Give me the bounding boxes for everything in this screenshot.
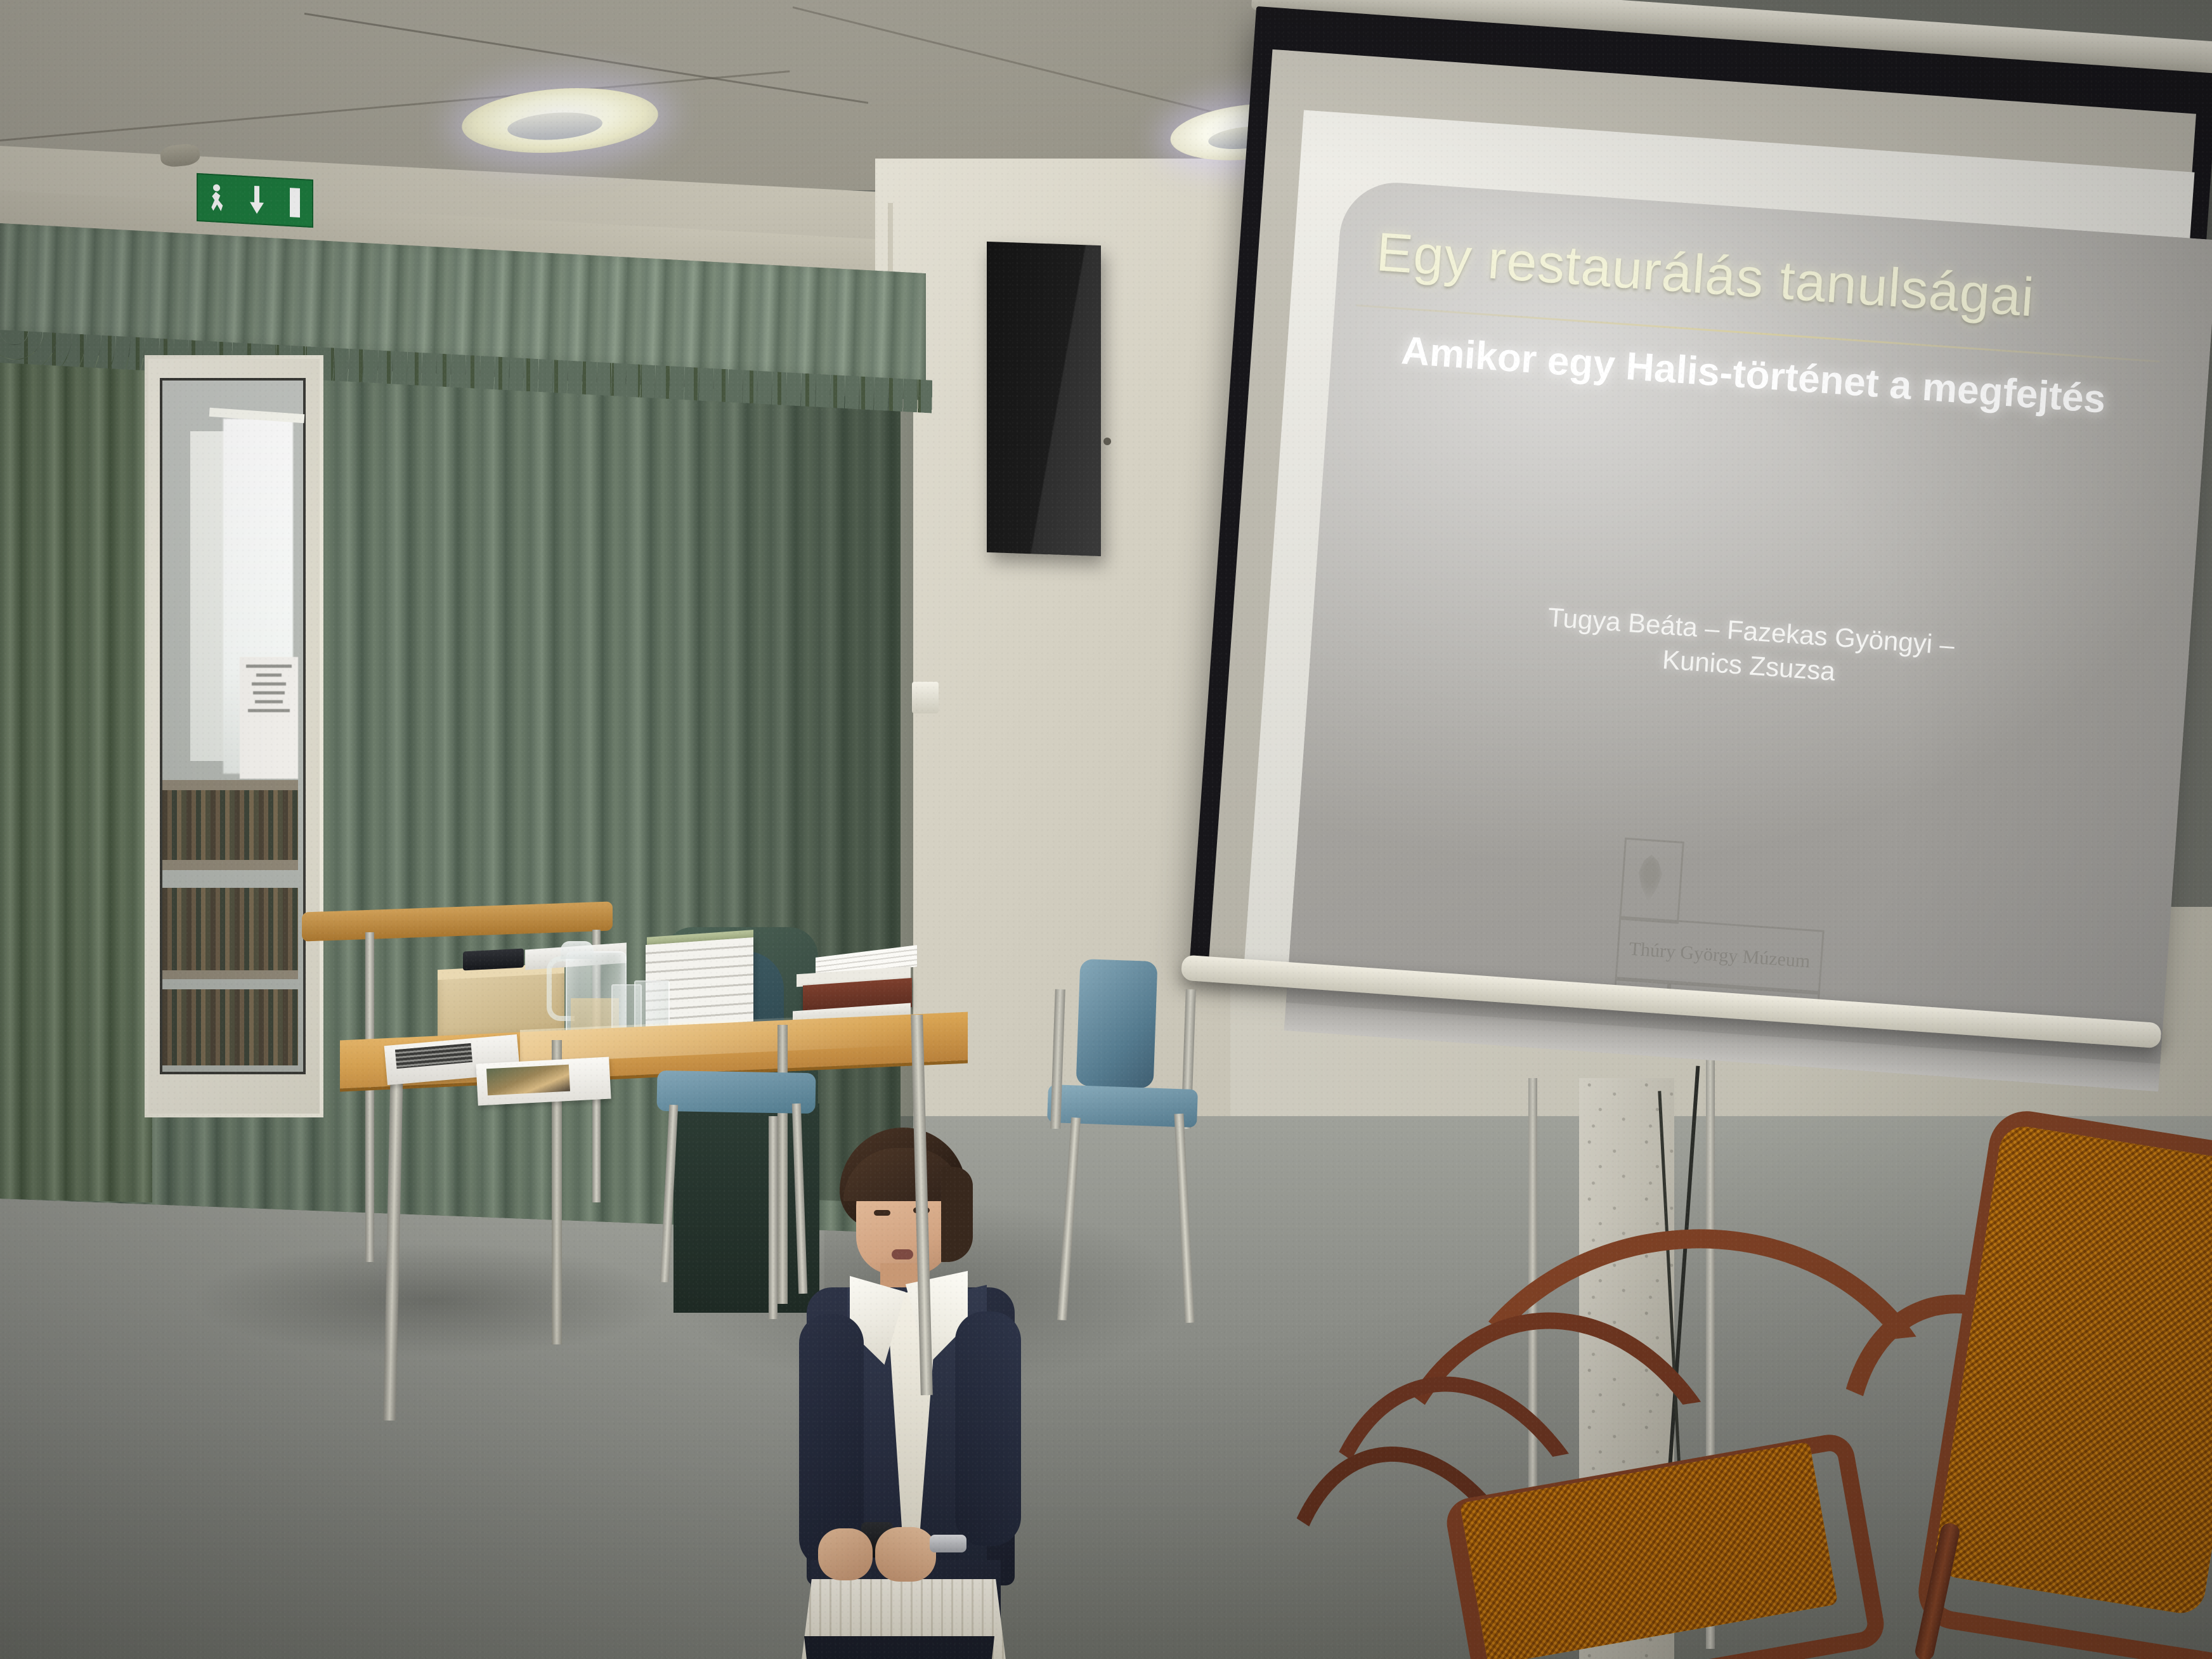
armchair-leg [769,1116,777,1319]
projection-screen-mat: Egy restaurálás tanulságai Amikor egy Ha… [1209,49,2196,1025]
library-shelf [162,860,298,870]
presenter-eye [874,1210,890,1216]
slide-subtitle: Amikor egy Halis-történet a megfejtés [1400,328,2194,428]
wall-speaker [987,242,1101,556]
blue-chair-back[interactable] [1076,959,1158,1088]
projection-screen-border: Egy restaurálás tanulságai Amikor egy Ha… [1190,6,2212,1029]
presenter-person [381,558,621,1319]
presentation-remote-on-table[interactable] [463,948,524,970]
running-person-icon [210,184,224,212]
blue-chair-leg [980,1122,988,1300]
bentwood-chairs-group [1281,1167,2212,1659]
projection-screen-surface: Egy restaurálás tanulságai Amikor egy Ha… [1243,110,2195,1046]
window-curtain-left-panel[interactable] [0,298,152,1202]
table-leg [777,1025,788,1304]
library-books [162,989,298,1065]
down-arrow-icon [249,185,265,215]
presenter-hand [875,1527,936,1582]
slide-authors: Tugya Beáta – Fazekas Gyöngyi – Kunics Z… [1310,584,2189,713]
presenter-trousers [804,1636,994,1659]
side-table-leg [365,932,374,1262]
slide-title: Egy restaurálás tanulságai [1374,221,2201,341]
pamphlet-photo [486,1065,570,1096]
presenter-mouth [892,1249,913,1259]
logo-name-text: Thúry György Múzeum [1629,939,1811,973]
presentation-slide: Egy restaurálás tanulságai Amikor egy Ha… [1284,179,2212,1091]
museum-logo: Thúry György Múzeum [1608,837,1827,1003]
wristwatch [930,1535,966,1552]
library-shelf [162,970,298,979]
pitcher-spout [561,941,594,959]
library-window-glare [190,431,228,761]
presenter-arm [955,1311,1021,1546]
library-shelf [162,780,298,790]
library-notice-sheet [240,657,298,779]
library-books [162,888,298,970]
speaker-mount-screw [1103,438,1111,445]
scene-photograph: Egy restaurálás tanulságai Amikor egy Ha… [0,0,2212,1659]
bentwood-chair-cane-back [1932,1123,2212,1617]
projection-screen-assembly: Egy restaurálás tanulságai Amikor egy Ha… [1175,0,2212,1237]
door-icon [290,188,300,218]
emergency-exit-sign [197,173,313,228]
wall-sensor-icon[interactable] [912,682,939,713]
presenter-hair-side [941,1167,973,1262]
library-books [162,790,298,860]
presenter-hand [818,1528,873,1580]
